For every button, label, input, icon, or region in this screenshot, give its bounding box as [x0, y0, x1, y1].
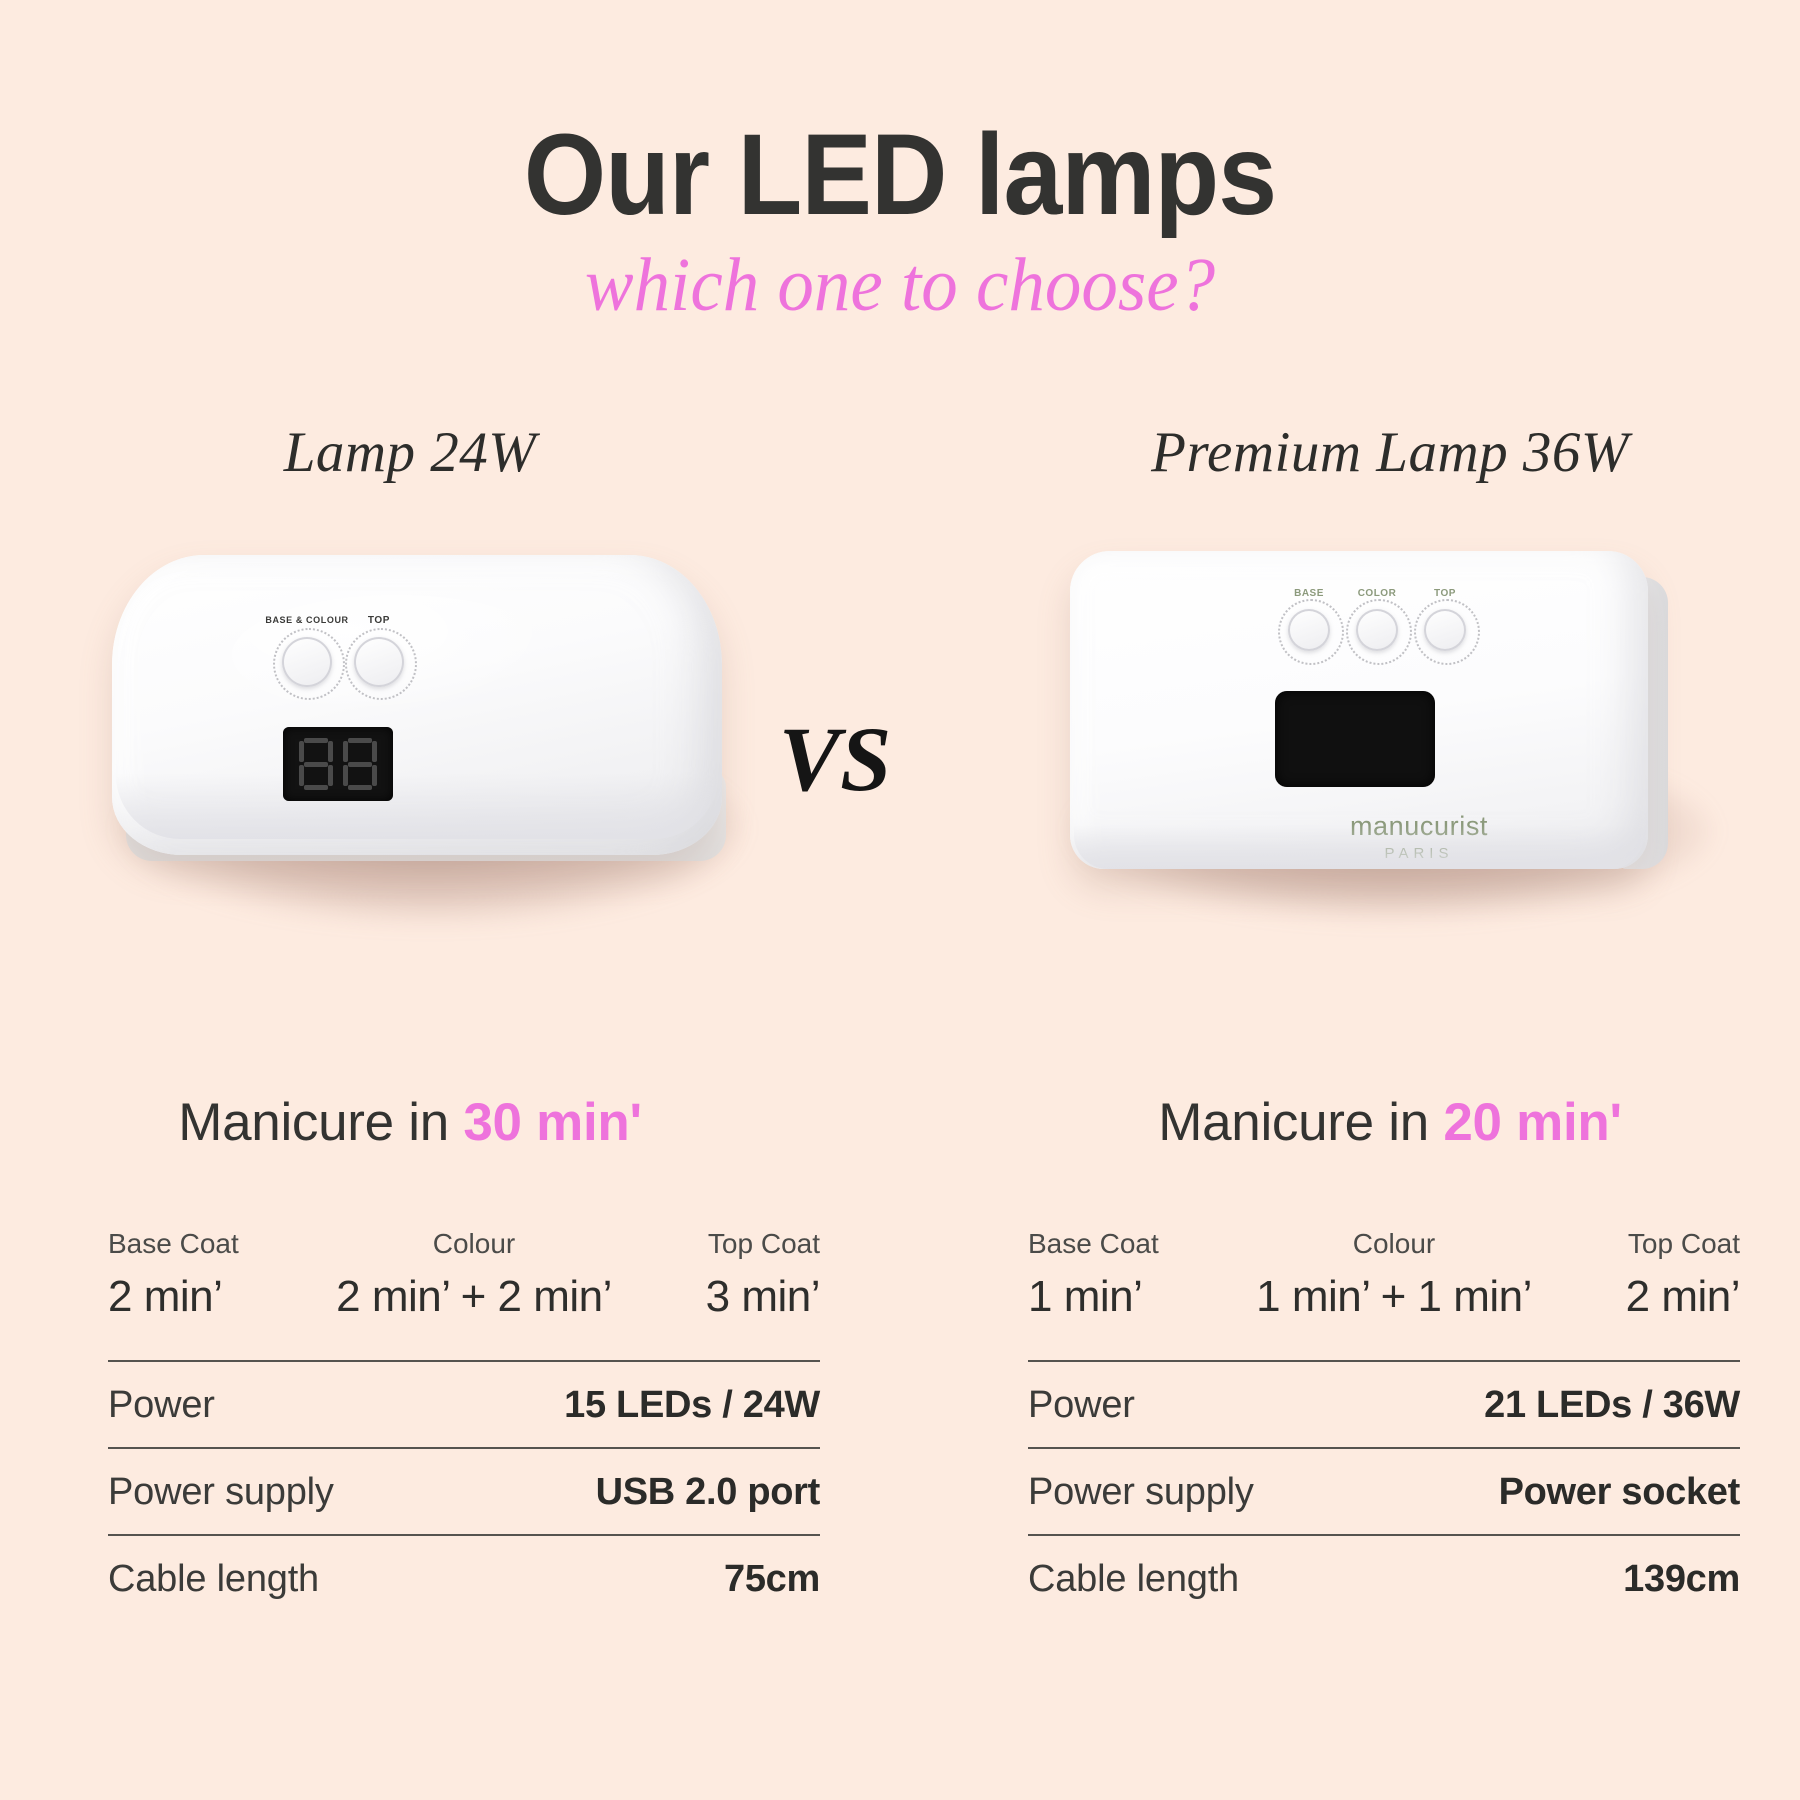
spec-row: Cable length 75cm — [108, 1534, 820, 1621]
product-column-lamp-24w: Lamp 24W BASE & COLOUR TOP — [30, 420, 790, 957]
spec-value: USB 2.0 port — [596, 1471, 820, 1514]
lamp-front-edge — [116, 773, 718, 839]
spec-row: Power 21 LEDs / 36W — [1028, 1360, 1740, 1447]
coat-top: Top Coat 3 min’ — [650, 1228, 820, 1322]
coat-timing-row: Base Coat 2 min’ Colour 2 min’ + 2 min’ … — [108, 1228, 820, 1322]
lamp-illustration-left: BASE & COLOUR TOP — [30, 537, 790, 957]
button-top[interactable]: TOP — [354, 637, 404, 687]
manicure-prefix: Manicure in — [178, 1093, 449, 1152]
button-base[interactable]: BASE — [1288, 609, 1330, 651]
manicure-prefix: Manicure in — [1158, 1093, 1429, 1152]
page-subtitle: which one to choose? — [36, 247, 1764, 323]
led-timer-display — [283, 727, 393, 801]
coat-base: Base Coat 1 min’ — [1028, 1228, 1218, 1322]
seven-segment-digit — [299, 738, 333, 790]
spec-value: 139cm — [1623, 1558, 1740, 1601]
lamp-button-row: BASE & COLOUR TOP — [282, 637, 404, 687]
coat-value: 3 min’ — [650, 1272, 820, 1322]
coat-value: 2 min’ + 2 min’ — [309, 1272, 639, 1322]
product-name-right: Premium Lamp 36W — [1010, 420, 1770, 485]
lamp-button-row: BASE COLOR TOP — [1288, 609, 1466, 651]
coat-top: Top Coat 2 min’ — [1570, 1228, 1740, 1322]
dial-ring-icon — [345, 628, 417, 700]
spec-row: Power 15 LEDs / 24W — [108, 1360, 820, 1447]
led-timer-display — [1275, 691, 1435, 787]
versus-label: VS — [765, 706, 905, 812]
button-color[interactable]: COLOR — [1356, 609, 1398, 651]
button-label-top: TOP — [1434, 588, 1456, 599]
product-name-left: Lamp 24W — [30, 420, 790, 485]
coat-header: Colour — [1229, 1228, 1559, 1260]
manicure-headline-left: Manicure in 30 min' — [30, 1092, 790, 1153]
dial-ring-icon — [1346, 599, 1412, 665]
button-label-base-and-colour: BASE & COLOUR — [265, 615, 348, 625]
spec-label: Power supply — [108, 1471, 334, 1514]
button-base-and-colour[interactable]: BASE & COLOUR — [282, 637, 332, 687]
coat-header: Top Coat — [650, 1228, 820, 1260]
spec-table-left: Base Coat 2 min’ Colour 2 min’ + 2 min’ … — [108, 1228, 820, 1621]
coat-colour: Colour 1 min’ + 1 min’ — [1229, 1228, 1559, 1322]
coat-value: 1 min’ — [1028, 1272, 1218, 1322]
spec-value: 21 LEDs / 36W — [1484, 1384, 1740, 1427]
dial-ring-icon — [273, 628, 345, 700]
coat-header: Base Coat — [1028, 1228, 1218, 1260]
spec-value: 15 LEDs / 24W — [564, 1384, 820, 1427]
spec-label: Cable length — [108, 1558, 319, 1601]
manicure-headline-right: Manicure in 20 min' — [1010, 1092, 1770, 1153]
dial-ring-icon — [1278, 599, 1344, 665]
spec-label: Cable length — [1028, 1558, 1239, 1601]
spec-value: 75cm — [724, 1558, 820, 1601]
lamp-front-edge — [1074, 825, 1644, 869]
coat-header: Top Coat — [1570, 1228, 1740, 1260]
product-column-premium-lamp-36w: Premium Lamp 36W BASE COLOR TOP — [1010, 420, 1770, 957]
spec-table-right: Base Coat 1 min’ Colour 1 min’ + 1 min’ … — [1028, 1228, 1740, 1621]
spec-value: Power socket — [1499, 1471, 1740, 1514]
seven-segment-digit — [343, 738, 377, 790]
infographic-page: Our LED lamps which one to choose? Lamp … — [0, 0, 1800, 1800]
coat-value: 2 min’ — [1570, 1272, 1740, 1322]
header: Our LED lamps which one to choose? — [0, 118, 1800, 323]
coat-value: 2 min’ — [108, 1272, 298, 1322]
button-label-top: TOP — [368, 615, 390, 626]
spec-label: Power supply — [1028, 1471, 1254, 1514]
lamp-body: BASE COLOR TOP manucurist PARIS — [1070, 551, 1648, 869]
spec-label: Power — [108, 1384, 215, 1427]
lamp-illustration-right: BASE COLOR TOP manucurist PARIS — [1010, 537, 1770, 957]
button-label-color: COLOR — [1358, 588, 1397, 599]
coat-header: Colour — [309, 1228, 639, 1260]
page-title: Our LED lamps — [72, 118, 1728, 233]
manicure-time: 30 min' — [463, 1093, 641, 1152]
button-top[interactable]: TOP — [1424, 609, 1466, 651]
coat-colour: Colour 2 min’ + 2 min’ — [309, 1228, 639, 1322]
manicure-time: 20 min' — [1443, 1093, 1621, 1152]
coat-base: Base Coat 2 min’ — [108, 1228, 298, 1322]
dial-ring-icon — [1414, 599, 1480, 665]
spec-row: Power supply Power socket — [1028, 1447, 1740, 1534]
button-label-base: BASE — [1294, 588, 1324, 599]
spec-label: Power — [1028, 1384, 1135, 1427]
spec-row: Cable length 139cm — [1028, 1534, 1740, 1621]
coat-value: 1 min’ + 1 min’ — [1229, 1272, 1559, 1322]
coat-timing-row: Base Coat 1 min’ Colour 1 min’ + 1 min’ … — [1028, 1228, 1740, 1322]
spec-row: Power supply USB 2.0 port — [108, 1447, 820, 1534]
coat-header: Base Coat — [108, 1228, 298, 1260]
